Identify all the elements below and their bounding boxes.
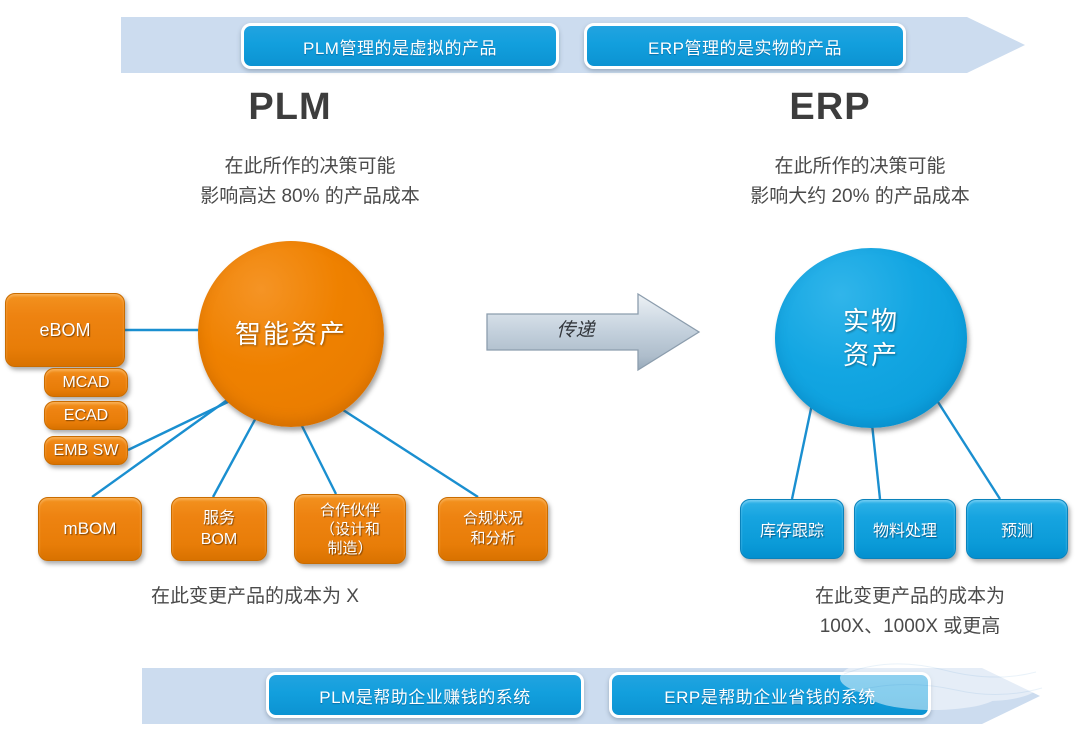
transfer-label: 传递 (483, 315, 668, 342)
node-mbom[interactable]: mBOM (38, 497, 142, 561)
node-mbom-label: mBOM (64, 519, 117, 539)
node-mcad-label: MCAD (62, 374, 109, 392)
node-material-handling-label: 物料处理 (873, 517, 937, 541)
node-service-bom[interactable]: 服务 BOM (171, 497, 267, 561)
erp-footnote: 在此变更产品的成本为 100X、1000X 或更高 (720, 582, 1080, 642)
node-forecast[interactable]: 预测 (966, 499, 1068, 559)
erp-circle[interactable]: 实物 资产 (775, 248, 967, 428)
plm-footnote: 在此变更产品的成本为 X (70, 582, 440, 612)
node-ecad[interactable]: ECAD (44, 401, 128, 430)
node-ebom-label: eBOM (39, 320, 90, 341)
node-forecast-label: 预测 (1001, 517, 1033, 541)
node-partner[interactable]: 合作伙伴 （设计和 制造） (294, 494, 406, 564)
node-emb-sw-label: EMB SW (54, 442, 119, 460)
node-compliance[interactable]: 合规状况 和分析 (438, 497, 548, 561)
node-inventory-tracking[interactable]: 库存跟踪 (740, 499, 844, 559)
node-material-handling[interactable]: 物料处理 (854, 499, 956, 559)
node-mcad[interactable]: MCAD (44, 368, 128, 397)
diagram-canvas: PLM管理的是虚拟的产品 ERP管理的是实物的产品 PLM是帮助企业赚钱的系统 … (0, 0, 1080, 736)
erp-circle-label: 实物 资产 (843, 304, 899, 372)
node-partner-label: 合作伙伴 （设计和 制造） (320, 501, 380, 558)
node-emb-sw[interactable]: EMB SW (44, 436, 128, 465)
node-inventory-tracking-label: 库存跟踪 (760, 517, 824, 541)
node-service-bom-label: 服务 BOM (201, 508, 237, 550)
plm-circle-label: 智能资产 (235, 317, 347, 351)
plm-circle[interactable]: 智能资产 (198, 241, 384, 427)
node-compliance-label: 合规状况 和分析 (463, 509, 523, 549)
node-ecad-label: ECAD (64, 407, 108, 425)
node-ebom[interactable]: eBOM (5, 293, 125, 367)
